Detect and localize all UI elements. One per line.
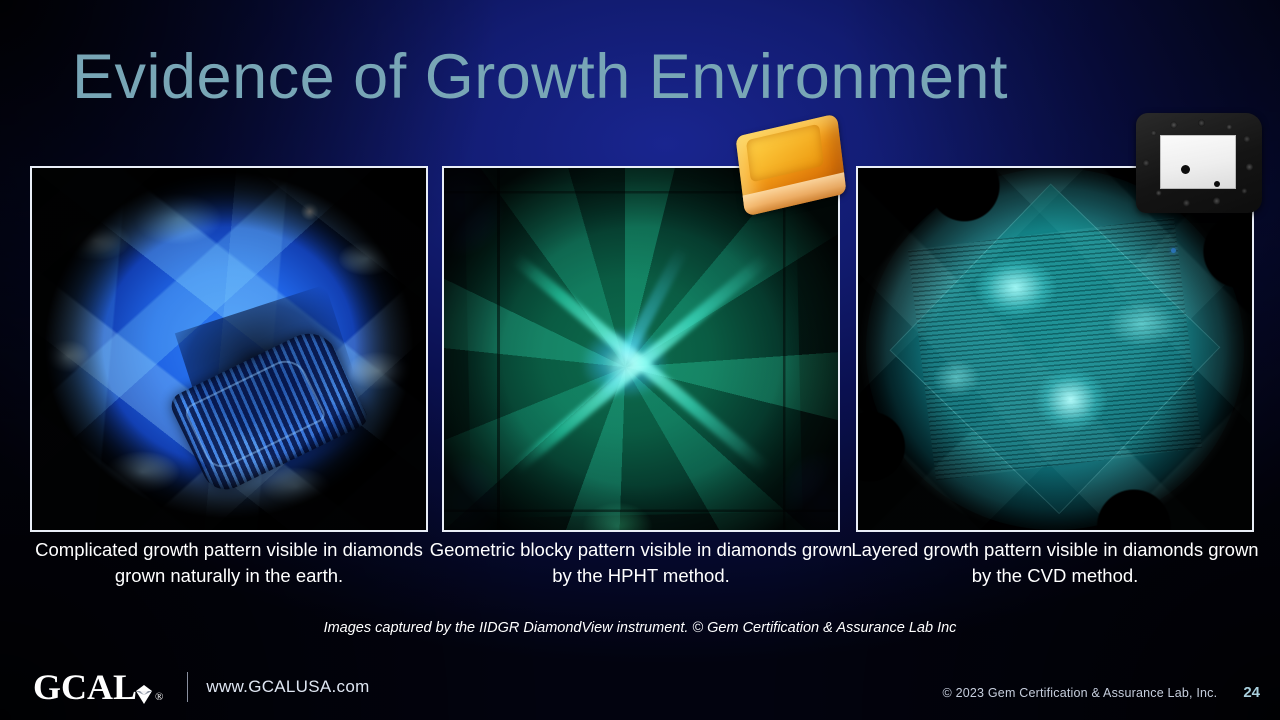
footer-meta: © 2023 Gem Certification & Assurance Lab… (943, 684, 1260, 701)
cvd-plate-spot-small (1214, 181, 1220, 187)
copyright-text: © 2023 Gem Certification & Assurance Lab… (943, 686, 1218, 700)
page-title: Evidence of Growth Environment (72, 41, 1008, 113)
cvd-rough-plate-inset (1136, 113, 1262, 213)
footer-divider (187, 672, 188, 702)
cvd-diamond-fluorescence-image (858, 168, 1252, 530)
cvd-plate-spot-large (1181, 165, 1190, 174)
caption-cvd: Layered growth pattern visible in diamon… (840, 537, 1270, 589)
hpht-edge-vignette (444, 168, 838, 530)
cvd-edge-vignette (858, 168, 1252, 530)
attribution-text: Images captured by the IIDGR DiamondView… (0, 620, 1280, 636)
gcal-logo-text: GCAL (33, 669, 137, 705)
hpht-rough-crystal-inset (731, 113, 857, 221)
natural-diamond-fluorescence-image (32, 168, 426, 530)
website-link[interactable]: www.GCALUSA.com (206, 677, 369, 697)
caption-natural: Complicated growth pattern visible in di… (14, 537, 444, 589)
hpht-diamond-fluorescence-image (444, 168, 838, 530)
registered-mark: ® (155, 692, 163, 703)
page-number: 24 (1243, 684, 1260, 701)
slide: Evidence of Growth Environment (0, 0, 1280, 720)
cvd-rough-plate-shape (1136, 113, 1262, 213)
caption-hpht: Geometric blocky pattern visible in diam… (426, 537, 856, 589)
diamond-icon (134, 674, 154, 693)
natural-edge-vignette (32, 168, 426, 530)
gcal-logo[interactable]: GCAL ® (33, 669, 163, 705)
image-panel-cvd[interactable] (856, 166, 1254, 532)
image-panel-natural[interactable] (30, 166, 428, 532)
hpht-rough-crystal-shape (735, 113, 846, 216)
footer-brand: GCAL ® www.GCALUSA.com (33, 669, 370, 705)
